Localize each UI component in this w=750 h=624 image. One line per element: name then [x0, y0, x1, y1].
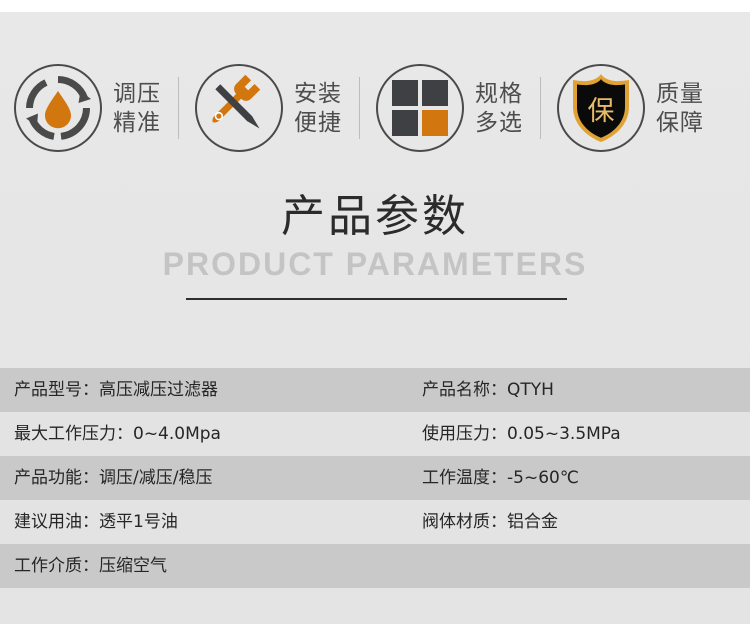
feature-label-line2: 便捷 [294, 108, 342, 137]
feature-item-easy-install: 安装 便捷 [195, 64, 342, 152]
param-value: -5~60℃ [507, 468, 579, 488]
square-bottom-right-accent [422, 110, 448, 136]
param-label: 阀体材质： [422, 512, 507, 532]
param-value: 压缩空气 [99, 556, 167, 576]
feature-label-line1: 调压 [113, 79, 161, 108]
param-label: 最大工作压力： [14, 424, 133, 444]
shield-guarantee-icon: 保 [570, 73, 632, 143]
parameters-table: 产品型号：高压减压过滤器 产品名称：QTYH 最大工作压力：0~4.0Mpa 使… [0, 368, 750, 588]
feature-label-line2: 精准 [113, 108, 161, 137]
param-value: 0~4.0Mpa [133, 424, 221, 444]
product-parameters-page: 调压 精准 [0, 0, 750, 624]
section-heading: 产品参数 PRODUCT PARAMETERS [0, 190, 750, 282]
feature-item-pressure-regulation: 调压 精准 [14, 64, 161, 152]
param-cell-left: 工作介质：压缩空气 [0, 555, 412, 577]
table-row: 产品功能：调压/减压/稳压 工作温度：-5~60℃ [0, 456, 750, 500]
feature-label-line2: 多选 [475, 108, 523, 137]
four-squares-grid-icon [392, 80, 448, 136]
square-bottom-left [392, 110, 418, 136]
param-cell-left: 产品型号：高压减压过滤器 [0, 379, 412, 401]
wrench-screwdriver-icon [206, 75, 272, 141]
feature-highlights-strip: 调压 精准 [0, 48, 750, 168]
param-cell-right: 产品名称：QTYH [412, 379, 750, 401]
param-value: 铝合金 [507, 512, 558, 532]
param-label: 工作介质： [14, 556, 99, 576]
page-title: 产品参数 [0, 190, 750, 244]
feature-icon-circle: 保 [557, 64, 645, 152]
feature-label: 质量 保障 [656, 79, 704, 137]
square-top-left [392, 80, 418, 106]
param-cell-right: 阀体材质：铝合金 [412, 511, 750, 533]
param-label: 使用压力： [422, 424, 507, 444]
param-label: 产品型号： [14, 380, 99, 400]
param-cell-right: 工作温度：-5~60℃ [412, 467, 750, 489]
feature-label: 调压 精准 [113, 79, 161, 137]
param-value: QTYH [507, 380, 554, 400]
param-label: 产品功能： [14, 468, 99, 488]
feature-icon-circle [376, 64, 464, 152]
param-cell-right: 使用压力：0.05~3.5MPa [412, 423, 750, 445]
param-label: 工作温度： [422, 468, 507, 488]
param-cell-left: 建议用油：透平1号油 [0, 511, 412, 533]
table-row: 建议用油：透平1号油 阀体材质：铝合金 [0, 500, 750, 544]
param-value: 0.05~3.5MPa [507, 424, 621, 444]
feature-divider [178, 77, 179, 139]
square-top-right [422, 80, 448, 106]
feature-item-quality-guarantee: 保 质量 保障 [557, 64, 704, 152]
param-value: 透平1号油 [99, 512, 178, 532]
feature-label-line1: 质量 [656, 79, 704, 108]
param-value: 高压减压过滤器 [99, 380, 218, 400]
feature-label: 规格 多选 [475, 79, 523, 137]
shield-char: 保 [588, 96, 615, 127]
feature-item-multiple-specs: 规格 多选 [376, 64, 523, 152]
feature-icon-circle [195, 64, 283, 152]
param-label: 建议用油： [14, 512, 99, 532]
table-row: 工作介质：压缩空气 [0, 544, 750, 588]
table-row: 最大工作压力：0~4.0Mpa 使用压力：0.05~3.5MPa [0, 412, 750, 456]
feature-label-line1: 安装 [294, 79, 342, 108]
table-row: 产品型号：高压减压过滤器 产品名称：QTYH [0, 368, 750, 412]
feature-label-line1: 规格 [475, 79, 523, 108]
feature-icon-circle [14, 64, 102, 152]
page-subtitle: PRODUCT PARAMETERS [0, 246, 750, 282]
heading-underline [186, 298, 567, 300]
param-value: 调压/减压/稳压 [99, 468, 212, 488]
feature-divider [359, 77, 360, 139]
oil-drop-recycle-icon [21, 71, 95, 145]
feature-label: 安装 便捷 [294, 79, 342, 137]
feature-divider [540, 77, 541, 139]
param-cell-left: 产品功能：调压/减压/稳压 [0, 467, 412, 489]
param-cell-left: 最大工作压力：0~4.0Mpa [0, 423, 412, 445]
feature-label-line2: 保障 [656, 108, 704, 137]
param-label: 产品名称： [422, 380, 507, 400]
